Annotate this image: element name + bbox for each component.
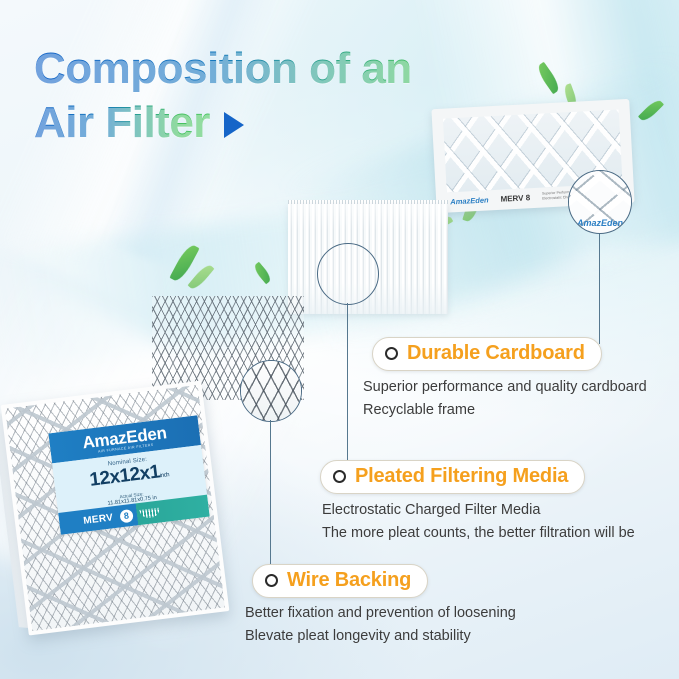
leader-line-pleat	[347, 303, 348, 465]
description-line: Superior performance and quality cardboa…	[363, 376, 647, 399]
filter-merv-label: MERV 8	[500, 193, 530, 204]
merv-label: MERV	[83, 512, 114, 527]
callout-pleated-filtering-media[interactable]: Pleated Filtering Media	[320, 460, 585, 494]
description-line: Electrostatic Charged Filter Media	[322, 499, 635, 522]
inset-brand-label: AmazEden	[569, 218, 631, 228]
cardboard-magnifier-inset: AmazEden	[568, 170, 632, 234]
leader-line-wire	[270, 420, 271, 578]
merv-value-badge: 8	[119, 508, 133, 522]
filter-brand-label: AmazEden	[450, 195, 489, 206]
callout-label: Wire Backing	[287, 569, 411, 592]
callout-label: Pleated Filtering Media	[355, 465, 568, 488]
callout-description-pleated: Electrostatic Charged Filter Media The m…	[322, 499, 635, 545]
nominal-size-unit: inch	[160, 472, 170, 479]
callout-description-wire: Better fixation and prevention of loosen…	[245, 602, 516, 648]
description-line: Recyclable frame	[363, 399, 647, 422]
donut-bullet-icon	[385, 347, 398, 360]
donut-bullet-icon	[333, 470, 346, 483]
leaf-icon	[188, 262, 215, 291]
leaf-icon	[638, 97, 664, 123]
callout-description-cardboard: Superior performance and quality cardboa…	[363, 376, 647, 422]
callout-label: Durable Cardboard	[407, 342, 585, 365]
mesh-magnifier-inset	[240, 360, 302, 422]
box-front-face: AmazEden AIR FURNACE AIR FILTERS Nominal…	[1, 381, 230, 636]
title-line-2: Air Filter	[34, 96, 210, 150]
leader-line-cardboard	[599, 234, 600, 344]
play-triangle-icon	[224, 112, 244, 138]
callout-wire-backing[interactable]: Wire Backing	[252, 564, 428, 598]
description-line: Blevate pleat longevity and stability	[245, 625, 516, 648]
product-label: AmazEden AIR FURNACE AIR FILTERS Nominal…	[48, 415, 209, 535]
donut-bullet-icon	[265, 574, 278, 587]
filter-lines-icon	[139, 507, 160, 518]
infographic-canvas: Composition of an Air Filter AmazEden ME…	[0, 0, 679, 679]
title-line-1: Composition of an	[34, 42, 504, 96]
leaf-icon	[535, 62, 562, 95]
callout-durable-cardboard[interactable]: Durable Cardboard	[372, 337, 602, 371]
product-box-image: MERV 8 AmazEden AmazEden AIR FURNACE AIR…	[1, 381, 230, 636]
description-line: Better fixation and prevention of loosen…	[245, 602, 516, 625]
leaf-icon	[252, 262, 273, 285]
description-line: The more pleat counts, the better filtra…	[322, 522, 635, 545]
mesh-zoom-pattern	[240, 360, 302, 422]
pleat-magnifier-inset	[317, 243, 379, 305]
